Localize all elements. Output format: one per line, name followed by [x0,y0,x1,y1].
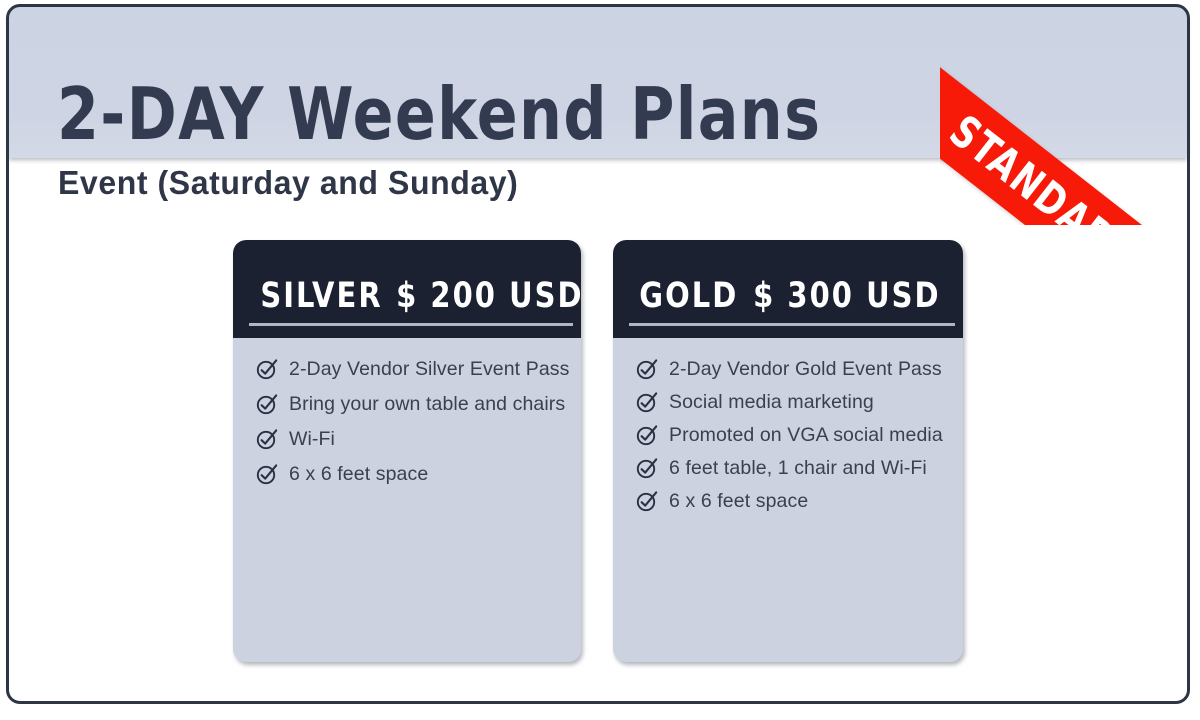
list-item: 6 x 6 feet space [635,488,963,514]
check-circle-icon [255,357,279,381]
check-circle-icon [255,427,279,451]
check-circle-icon [635,456,659,480]
plan-card-header-gold: GOLD $ 300 USD [613,240,963,338]
feature-list-gold: 2-Day Vendor Gold Event Pass Social medi… [613,338,963,514]
pricing-poster: 2-DAY Weekend Plans Event (Saturday and … [0,0,1200,720]
list-item: Social media marketing [635,389,963,415]
check-circle-icon [635,357,659,381]
check-circle-icon [635,423,659,447]
feature-label: Social media marketing [669,390,874,414]
plan-tier-name: GOLD [639,276,738,316]
plan-tier-name: SILVER [260,276,382,316]
list-item: 2-Day Vendor Gold Event Pass [635,356,963,382]
plan-card-header-silver: SILVER $ 200 USD [233,240,581,338]
ribbon-label: STANDARD [940,105,1147,225]
list-item: Wi-Fi [255,426,581,452]
corner-ribbon: STANDARD [940,0,1200,225]
feature-label: 6 x 6 feet space [289,462,428,486]
ribbon-banner: STANDARD [940,36,1200,225]
check-circle-icon [255,392,279,416]
list-item: Bring your own table and chairs [255,391,581,417]
list-item: 6 feet table, 1 chair and Wi-Fi [635,455,963,481]
plan-card-silver[interactable]: SILVER $ 200 USD 2-Day Vendor Silver Eve… [233,240,581,662]
header-divider [629,323,955,326]
list-item: 2-Day Vendor Silver Event Pass [255,356,581,382]
check-circle-icon [255,462,279,486]
feature-list-silver: 2-Day Vendor Silver Event Pass Bring you… [233,338,581,487]
header-divider [249,323,573,326]
check-circle-icon [635,489,659,513]
feature-label: 6 x 6 feet space [669,489,808,513]
plan-card-gold[interactable]: GOLD $ 300 USD 2-Day Vendor Gold Event P… [613,240,963,662]
feature-label: Promoted on VGA social media [669,423,943,447]
list-item: Promoted on VGA social media [635,422,963,448]
feature-label: 2-Day Vendor Silver Event Pass [289,357,569,381]
feature-label: Wi-Fi [289,427,335,451]
list-item: 6 x 6 feet space [255,461,581,487]
plan-price: $ 300 USD [753,276,940,316]
check-circle-icon [635,390,659,414]
feature-label: Bring your own table and chairs [289,392,565,416]
plan-price: $ 200 USD [396,276,581,316]
feature-label: 6 feet table, 1 chair and Wi-Fi [669,456,927,480]
feature-label: 2-Day Vendor Gold Event Pass [669,357,942,381]
